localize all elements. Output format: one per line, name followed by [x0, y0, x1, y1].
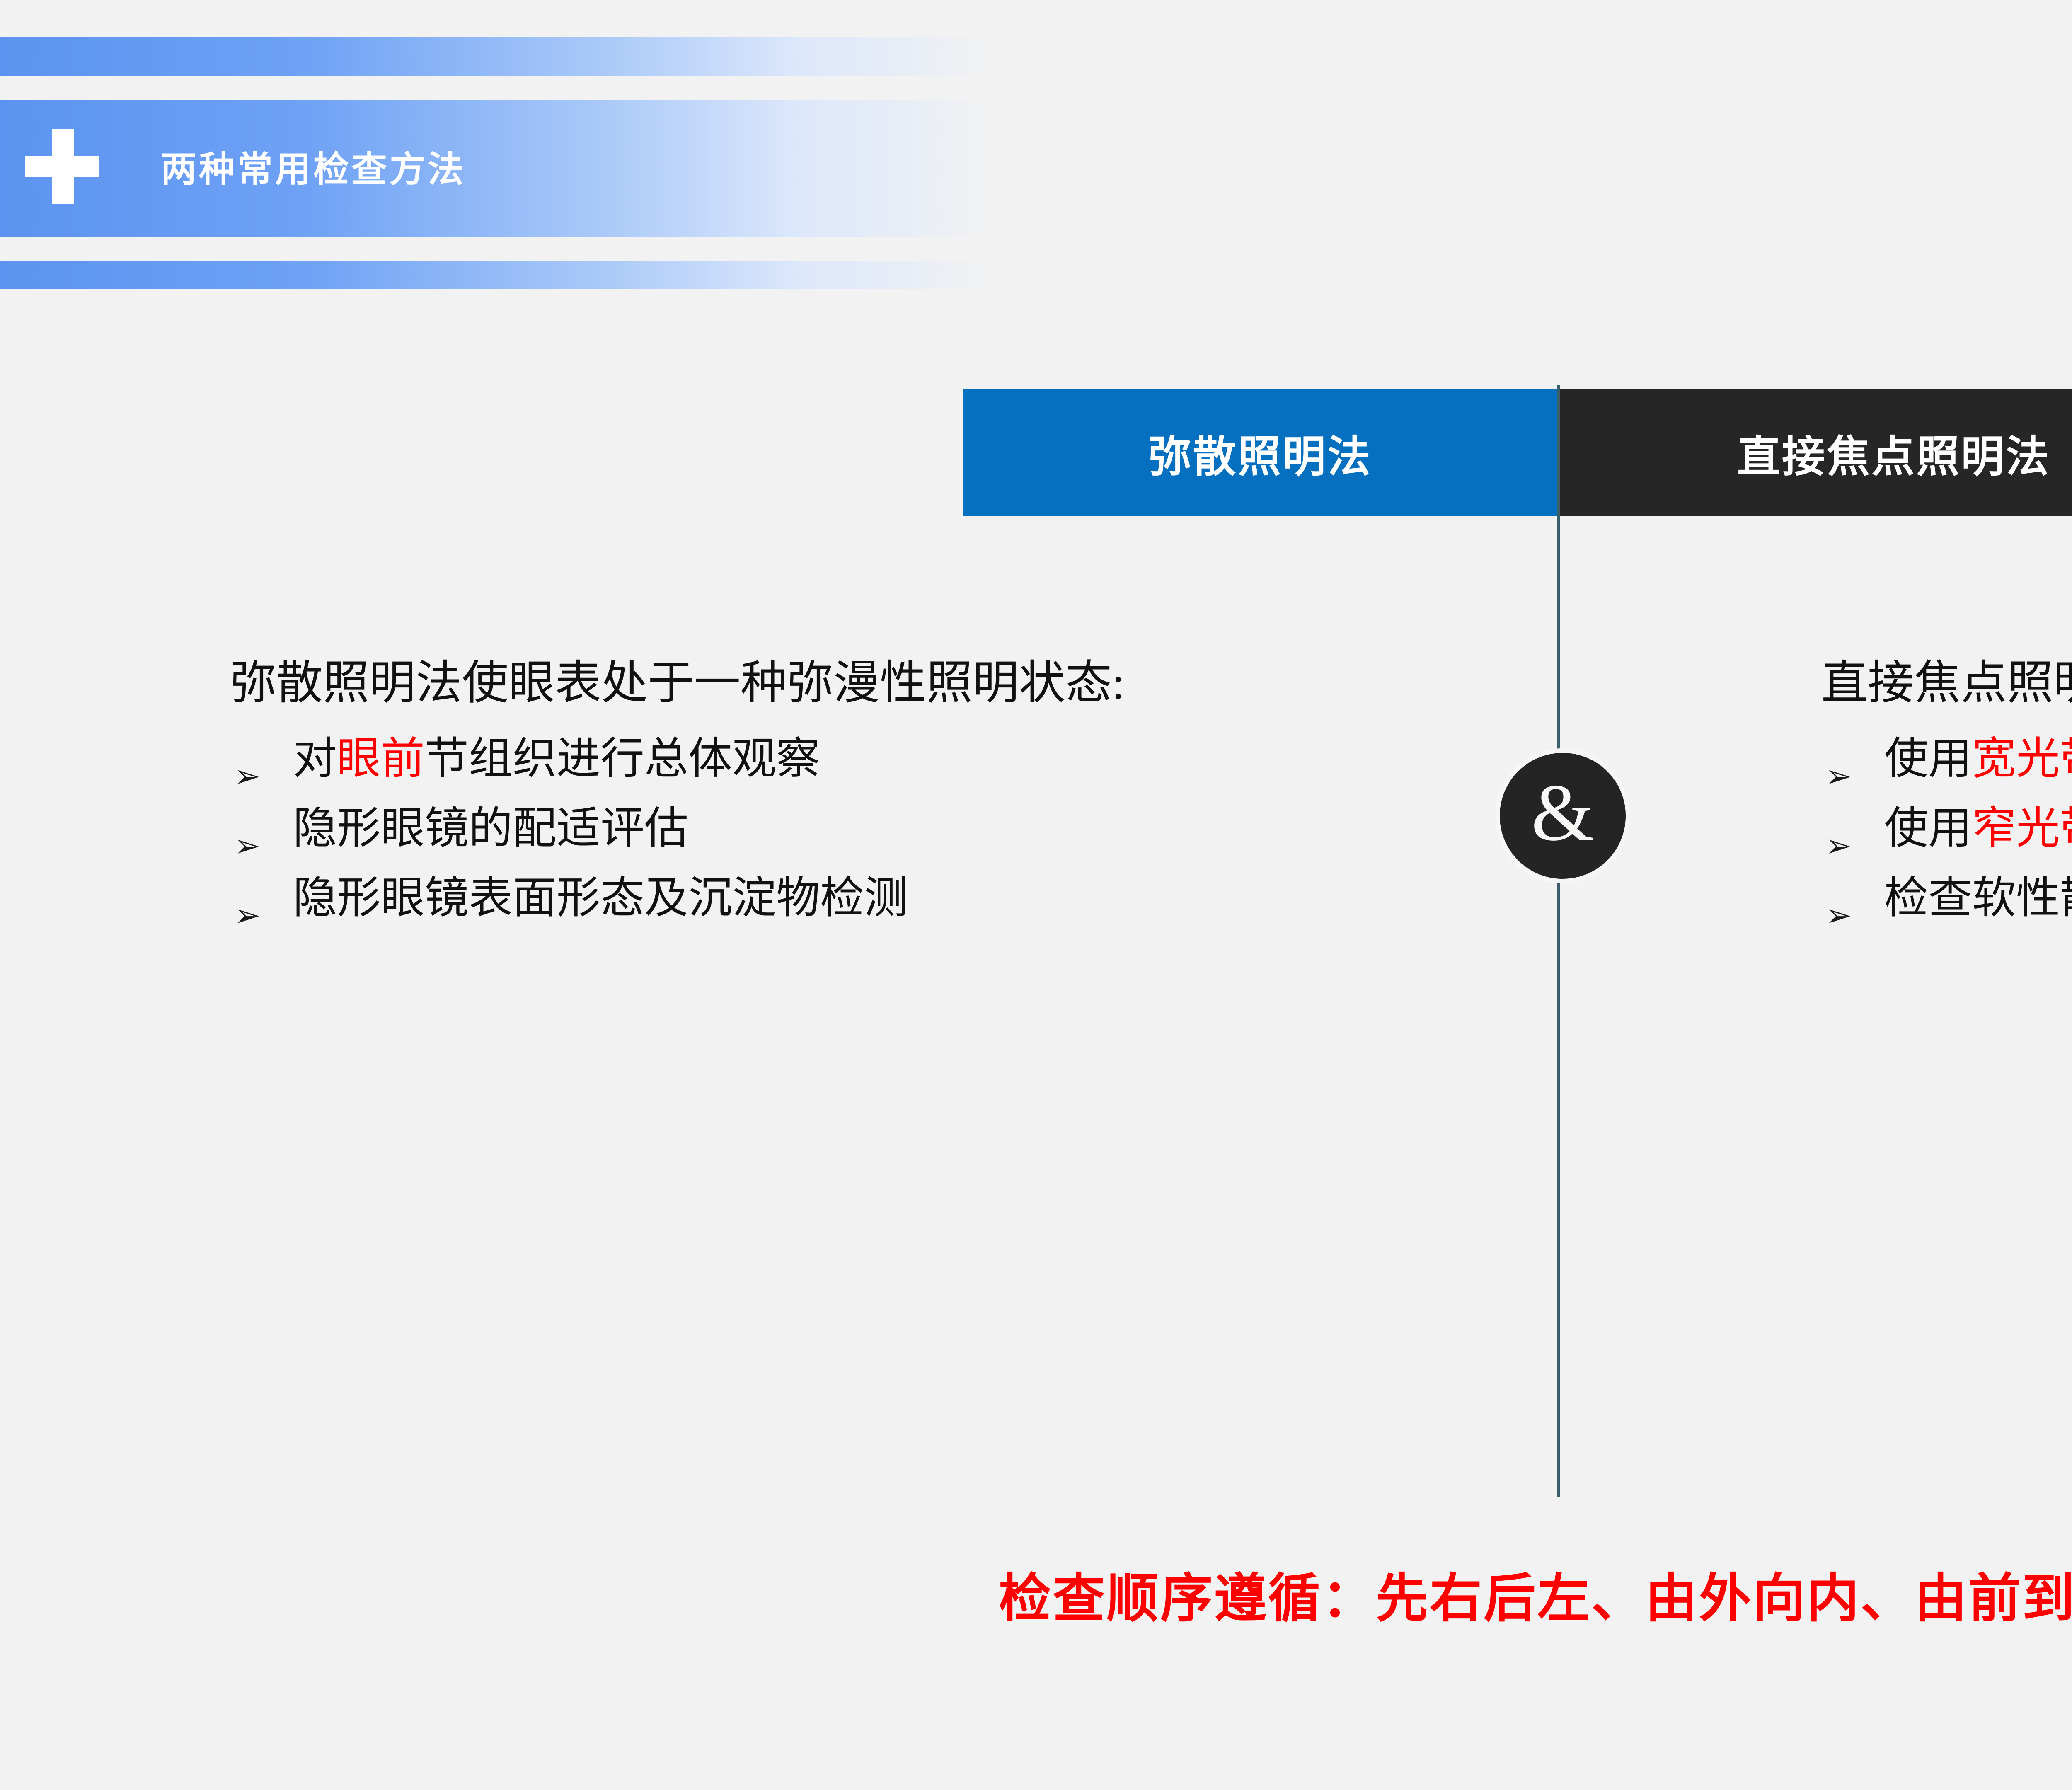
bullet-item: ➢隐形眼镜的配适评估: [230, 807, 1386, 851]
bullet-list: ➢对眼前节组织进行总体观察➢隐形眼镜的配适评估➢隐形眼镜表面形态及沉淀物检测: [230, 737, 1386, 920]
medical-cross-icon: [25, 129, 99, 204]
bullet-text-run: 窄光带: [1972, 804, 2072, 853]
bullet-text-run: 检查软性散光接触镜片标偏转量: [1884, 874, 2072, 922]
bullet-arrow-icon: ➢: [234, 830, 261, 861]
bullet-text: 隐形眼镜表面形态及沉淀物检测: [293, 874, 908, 922]
bullet-item: ➢使用宽光带观察眼前节病变宽度: [1821, 737, 2072, 781]
column-intro-text: 直接焦点照明法是最常用的照明方法:: [1821, 651, 2072, 716]
cross-horizontal-bar: [25, 156, 99, 177]
bullet-arrow-icon: ➢: [234, 760, 261, 792]
bullet-text: 使用宽光带观察眼前节病变宽度: [1884, 735, 2072, 783]
bullet-text-run: 隐形眼镜表面形态及沉淀物检测: [293, 874, 908, 922]
tab-direct-focal-illumination[interactable]: 直接焦点照明法: [1560, 389, 2072, 516]
header-banner: 两种常用检查方法: [0, 37, 1028, 269]
bullet-text: 使用窄光带观察眼前节病变深度: [1884, 804, 2072, 853]
bullet-arrow-icon: ➢: [234, 900, 261, 931]
column-intro-text: 弥散照明法使眼表处于一种弥漫性照明状态:: [230, 651, 1349, 716]
ampersand-badge: &: [1495, 748, 1630, 883]
bullet-text-run: 使用: [1884, 735, 1972, 783]
bullet-arrow-icon: ➢: [1825, 760, 1852, 792]
bullet-text-run: 使用: [1884, 804, 1972, 853]
page-title: 两种常用检查方法: [161, 140, 466, 192]
header-stripe-top: [0, 37, 1028, 76]
center-vertical-divider: [1557, 385, 1560, 1497]
bullet-item: ➢对眼前节组织进行总体观察: [230, 737, 1386, 781]
bullet-text: 检查软性散光接触镜片标偏转量: [1884, 874, 2072, 922]
bullet-arrow-icon: ➢: [1825, 830, 1852, 861]
column-direct-focal-illumination: 直接焦点照明法是最常用的照明方法: ➢使用宽光带观察眼前节病变宽度➢使用窄光带观…: [1821, 651, 2072, 946]
bullet-text-run: 隐形眼镜的配适评估: [293, 804, 688, 853]
bullet-text: 隐形眼镜的配适评估: [293, 804, 688, 853]
bullet-list: ➢使用宽光带观察眼前节病变宽度➢使用窄光带观察眼前节病变深度➢检查软性散光接触镜…: [1821, 737, 2072, 920]
header-stripe-middle: [0, 100, 1028, 237]
tab-diffuse-illumination[interactable]: 弥散照明法: [963, 389, 1557, 516]
column-diffuse-illumination: 弥散照明法使眼表处于一种弥漫性照明状态: ➢对眼前节组织进行总体观察➢隐形眼镜的…: [230, 651, 1386, 946]
bullet-text-run: 眼前: [337, 735, 425, 783]
footer-note: 检查顺序遵循：先右后左、由外向内、由前到后。: [0, 1556, 2072, 1632]
bullet-text-run: 节组织进行总体观察: [425, 735, 820, 783]
bullet-text-run: 对: [293, 735, 337, 783]
bullet-text-run: 宽光带: [1972, 735, 2072, 783]
ampersand-glyph: &: [1531, 772, 1594, 854]
bullet-item: ➢隐形眼镜表面形态及沉淀物检测: [230, 876, 1386, 920]
bullet-text: 对眼前节组织进行总体观察: [293, 735, 820, 783]
header-stripe-bottom: [0, 261, 1028, 289]
bullet-arrow-icon: ➢: [1825, 900, 1852, 931]
bullet-item: ➢检查软性散光接触镜片标偏转量: [1821, 876, 2072, 920]
bullet-item: ➢使用窄光带观察眼前节病变深度: [1821, 807, 2072, 851]
